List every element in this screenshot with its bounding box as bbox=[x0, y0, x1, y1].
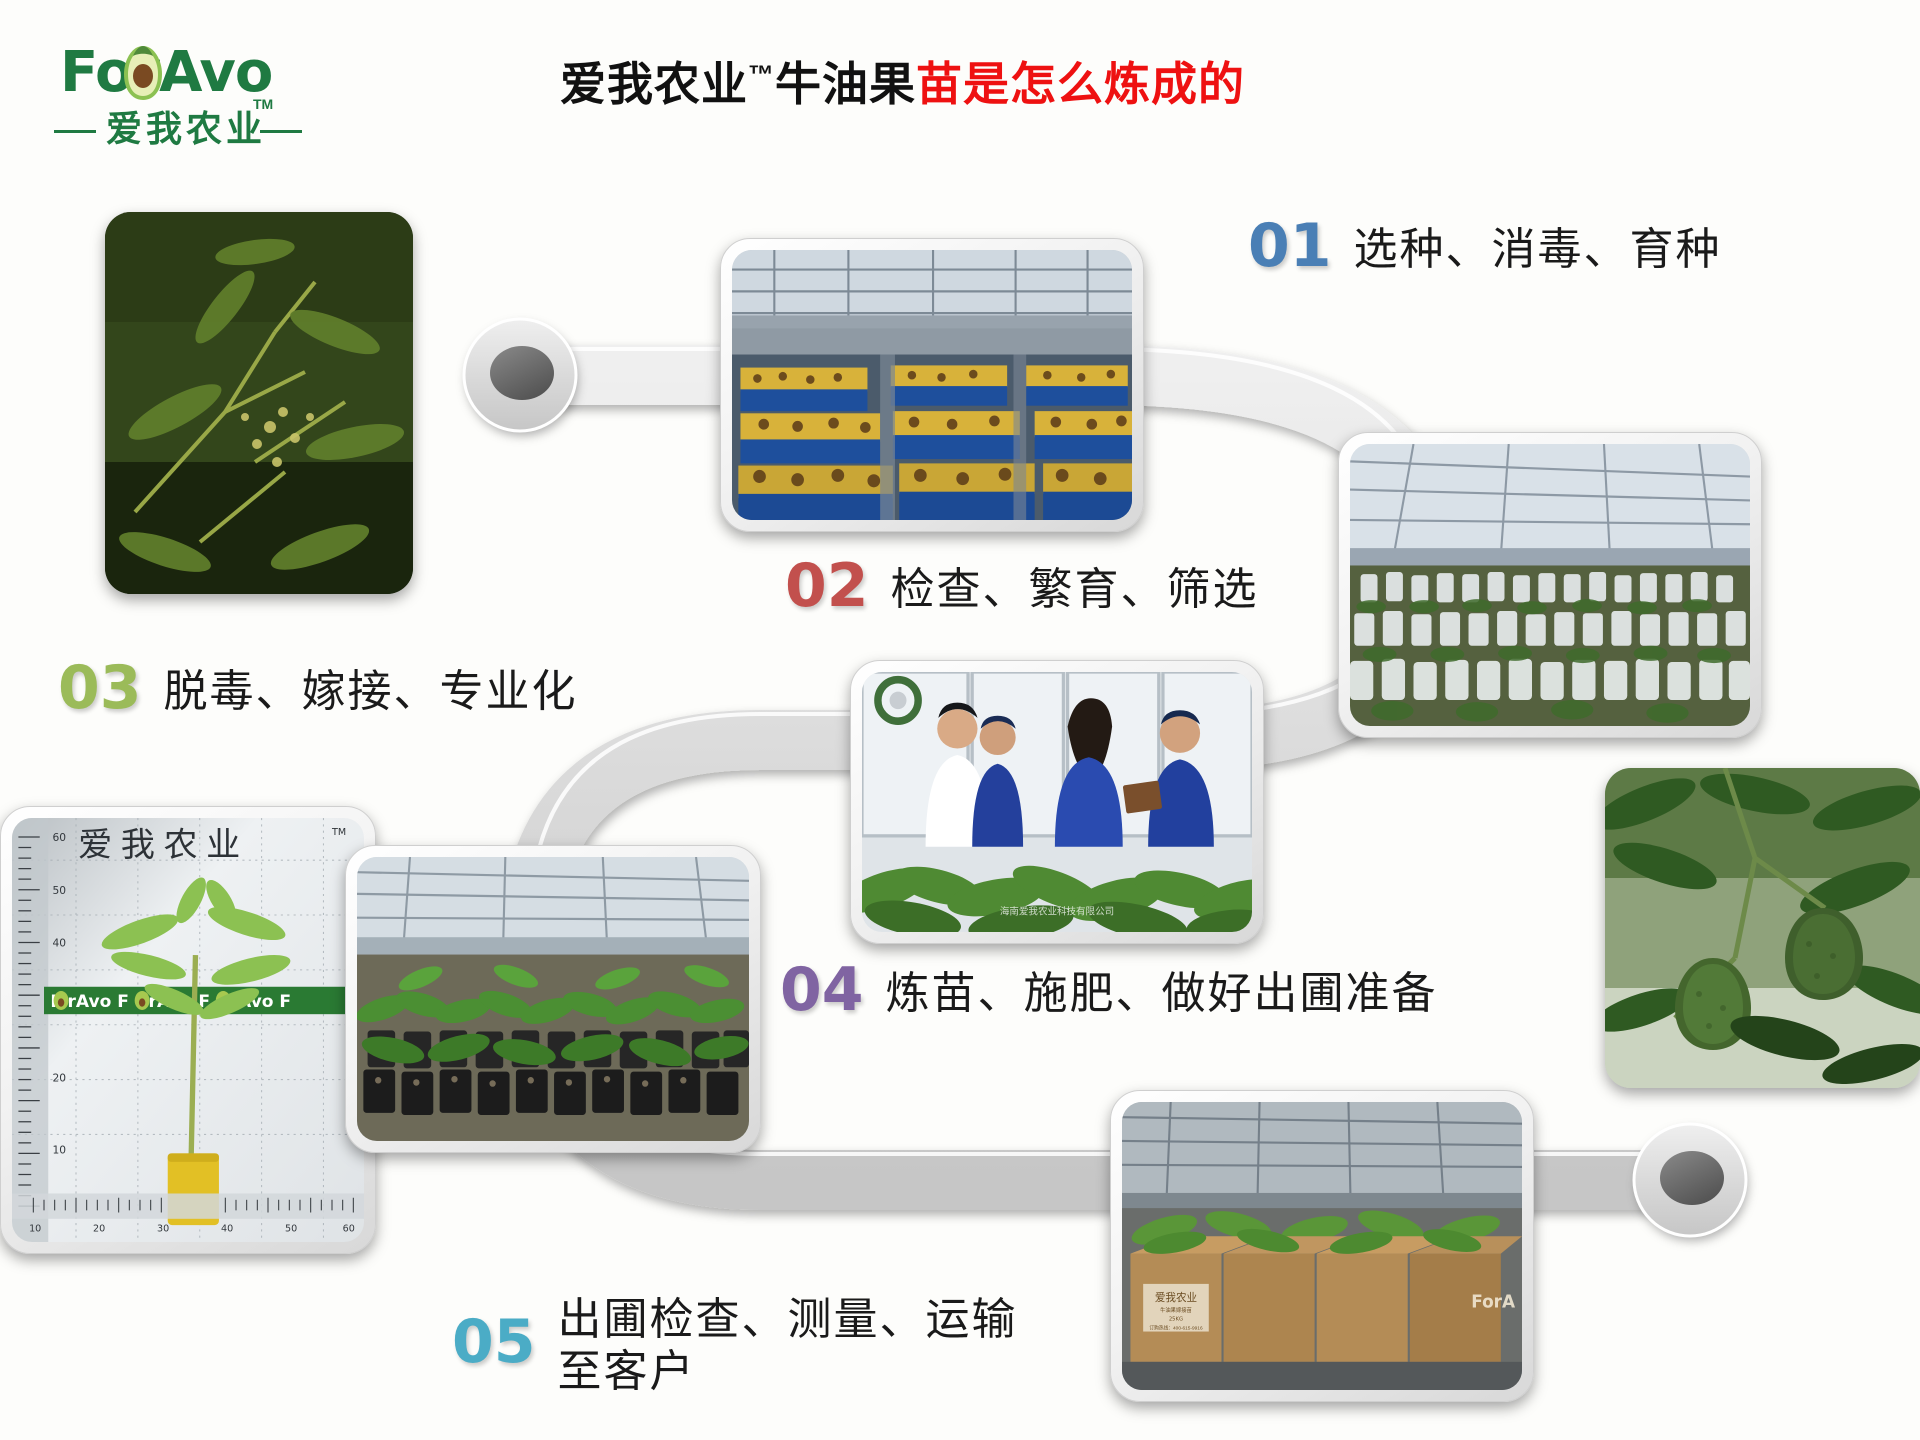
photo-ruler-seedling-image: 60 50 40 30 20 10 爱我农业 TM F rAvo F rAvo … bbox=[12, 818, 364, 1242]
box-brand: 爱我农业 bbox=[1155, 1291, 1198, 1304]
photo-inspection-team: 海南爱我农业科技有限公司 bbox=[850, 660, 1264, 944]
photo-inspection-team-image: 海南爱我农业科技有限公司 bbox=[862, 672, 1252, 932]
logo-chinese-name: 爱我农业 bbox=[106, 100, 266, 152]
step-text-05: 出圃检查、测量、运输 至客户 bbox=[558, 1288, 1018, 1398]
box-sub: 牛油果嫁接苗 bbox=[1160, 1306, 1192, 1314]
title-black-part2: 牛油果 bbox=[775, 58, 916, 110]
avocado-icon bbox=[121, 44, 165, 102]
step-text-02: 检查、繁育、筛选 bbox=[891, 558, 1259, 616]
svg-text:rAvo F: rAvo F bbox=[67, 992, 128, 1012]
team-photo-watermark: 海南爱我农业科技有限公司 bbox=[1000, 904, 1114, 917]
logo-rule-left bbox=[54, 130, 96, 133]
step-number-02: 02 bbox=[785, 558, 869, 615]
ruler-tick-50: 50 bbox=[53, 885, 67, 897]
scale-50: 50 bbox=[285, 1223, 297, 1234]
step-text-04: 炼苗、施肥、做好出圃准备 bbox=[886, 962, 1438, 1020]
scale-10: 10 bbox=[29, 1223, 41, 1234]
step-text-05-line1: 出圃检查、测量、运输 bbox=[558, 1295, 1018, 1344]
step-label-04: 04 炼苗、施肥、做好出圃准备 bbox=[780, 962, 1438, 1020]
photo-packing-boxes-image: 爱我农业 牛油果嫁接苗 25KG 订购热线：400-615-9916 ForA bbox=[1122, 1102, 1522, 1390]
scale-60: 60 bbox=[343, 1223, 355, 1234]
photo-flowering-branch bbox=[105, 212, 413, 594]
photo-seed-trays-image bbox=[732, 250, 1132, 520]
photo-grafting-greenhouse bbox=[1338, 432, 1762, 738]
ruler-tick-60: 60 bbox=[53, 832, 67, 844]
box-phone: 订购热线：400-615-9916 bbox=[1149, 1324, 1203, 1331]
page-title: 爱我农业™牛油果苗是怎么炼成的 bbox=[560, 48, 1460, 114]
step-text-01: 选种、消毒、育种 bbox=[1354, 218, 1722, 276]
title-red-part: 苗是怎么炼成的 bbox=[916, 58, 1245, 110]
flow-end-node bbox=[1634, 1124, 1746, 1236]
photo-fruit-on-tree-image bbox=[1605, 768, 1920, 1088]
photo-packing-boxes: 爱我农业 牛油果嫁接苗 25KG 订购热线：400-615-9916 ForA bbox=[1110, 1090, 1534, 1402]
brand-logo: ForAvo 爱我农业 TM bbox=[48, 38, 338, 148]
scale-20: 20 bbox=[93, 1223, 105, 1234]
step-number-05: 05 bbox=[452, 1288, 536, 1371]
flow-start-node bbox=[464, 319, 576, 431]
ruler-tick-20: 20 bbox=[53, 1073, 67, 1085]
photo-potted-rows-image bbox=[357, 857, 749, 1141]
logo-rule-right bbox=[260, 130, 302, 133]
photo-fruit-on-tree bbox=[1605, 768, 1920, 1088]
box-side-text: ForA bbox=[1471, 1293, 1516, 1313]
title-black-part: 爱我农业 bbox=[560, 58, 748, 110]
step-label-03: 03 脱毒、嫁接、专业化 bbox=[58, 660, 578, 718]
photo-seed-trays bbox=[720, 238, 1144, 532]
step-text-05-line2: 至客户 bbox=[558, 1346, 1018, 1398]
logo-wordmark: ForAvo bbox=[60, 40, 272, 105]
ruler-tick-40: 40 bbox=[53, 938, 67, 950]
scale-40: 40 bbox=[221, 1223, 233, 1234]
photo-flowering-branch-image bbox=[105, 212, 413, 594]
step-label-05: 05 出圃检查、测量、运输 至客户 bbox=[452, 1288, 1018, 1398]
photo-potted-rows bbox=[345, 845, 761, 1153]
box-spec: 25KG bbox=[1169, 1317, 1183, 1323]
step-number-04: 04 bbox=[780, 962, 864, 1019]
step-label-01: 01 选种、消毒、育种 bbox=[1248, 218, 1722, 276]
infographic-canvas: ForAvo 爱我农业 TM 爱我农业™牛油果苗是怎么炼成的 bbox=[0, 0, 1920, 1440]
ruler-board-tm: TM bbox=[331, 827, 346, 838]
ruler-tick-10: 10 bbox=[53, 1144, 67, 1156]
photo-ruler-seedling: 60 50 40 30 20 10 爱我农业 TM F rAvo F rAvo … bbox=[0, 806, 376, 1254]
step-number-01: 01 bbox=[1248, 218, 1332, 275]
step-text-03: 脱毒、嫁接、专业化 bbox=[164, 660, 578, 718]
photo-grafting-greenhouse-image bbox=[1350, 444, 1750, 726]
step-number-03: 03 bbox=[58, 660, 142, 717]
step-label-02: 02 检查、繁育、筛选 bbox=[785, 558, 1259, 616]
logo-tm-mark: TM bbox=[253, 96, 273, 112]
scale-30: 30 bbox=[157, 1223, 169, 1234]
ruler-board-title: 爱我农业 bbox=[78, 826, 249, 864]
title-tm: ™ bbox=[748, 60, 775, 90]
